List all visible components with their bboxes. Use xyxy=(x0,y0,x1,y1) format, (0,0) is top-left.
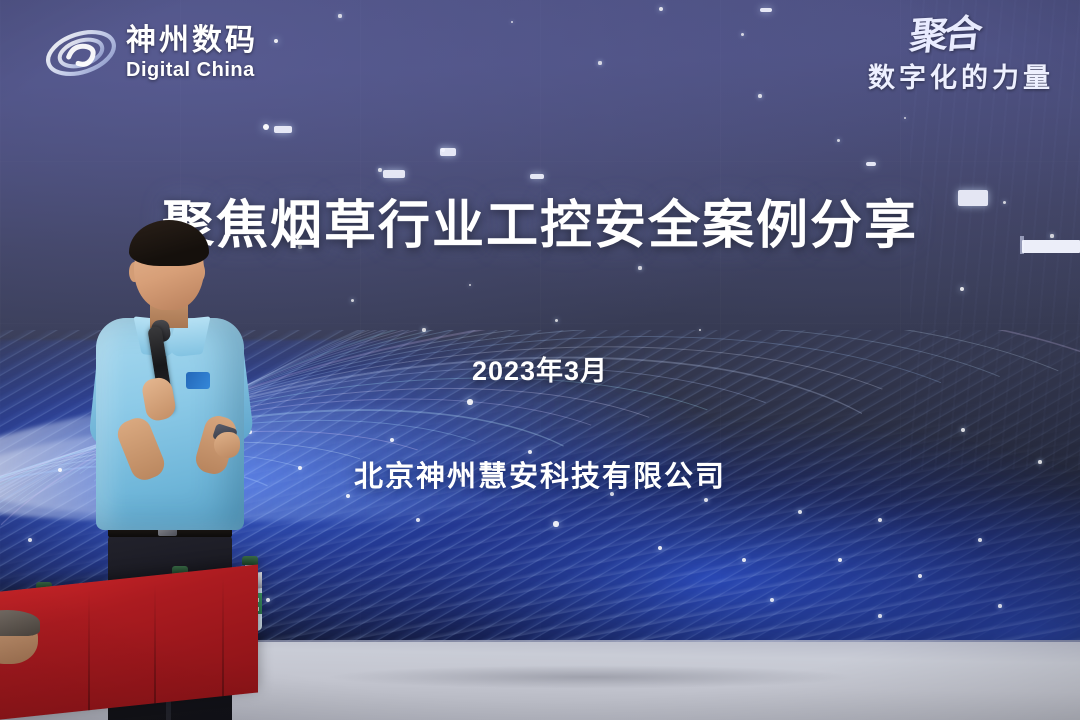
digital-china-logo: 神州数码 Digital China xyxy=(44,22,258,84)
conference-photo: 神州数码 Digital China 聚合 数字化的力量 聚焦烟草行业工控安全案… xyxy=(0,0,1080,720)
light-dash xyxy=(274,126,292,133)
digital-china-wordmark: 神州数码 Digital China xyxy=(126,26,258,80)
light-dash xyxy=(383,170,405,178)
event-slogan-logo: 聚合 数字化的力量 xyxy=(868,18,1054,95)
brand-name-en: Digital China xyxy=(126,60,258,80)
floor-shadow xyxy=(240,664,940,690)
digital-china-spiral-mark xyxy=(44,22,118,84)
speaker-shirt-logo xyxy=(186,372,210,389)
speaker-hair xyxy=(129,220,209,266)
light-dash xyxy=(440,148,456,156)
speaker-right-hand xyxy=(214,432,240,458)
cloth-fold xyxy=(88,590,90,710)
edge-marker-bar xyxy=(1022,240,1080,253)
cloth-fold xyxy=(154,583,156,703)
brand-name-cn: 神州数码 xyxy=(126,26,258,56)
light-dash xyxy=(530,174,544,179)
cloth-fold xyxy=(222,576,224,696)
light-dash xyxy=(760,8,772,12)
light-dash xyxy=(866,162,876,166)
event-subtitle: 数字化的力量 xyxy=(868,56,1054,95)
event-calligraphy: 聚合 xyxy=(866,15,981,57)
